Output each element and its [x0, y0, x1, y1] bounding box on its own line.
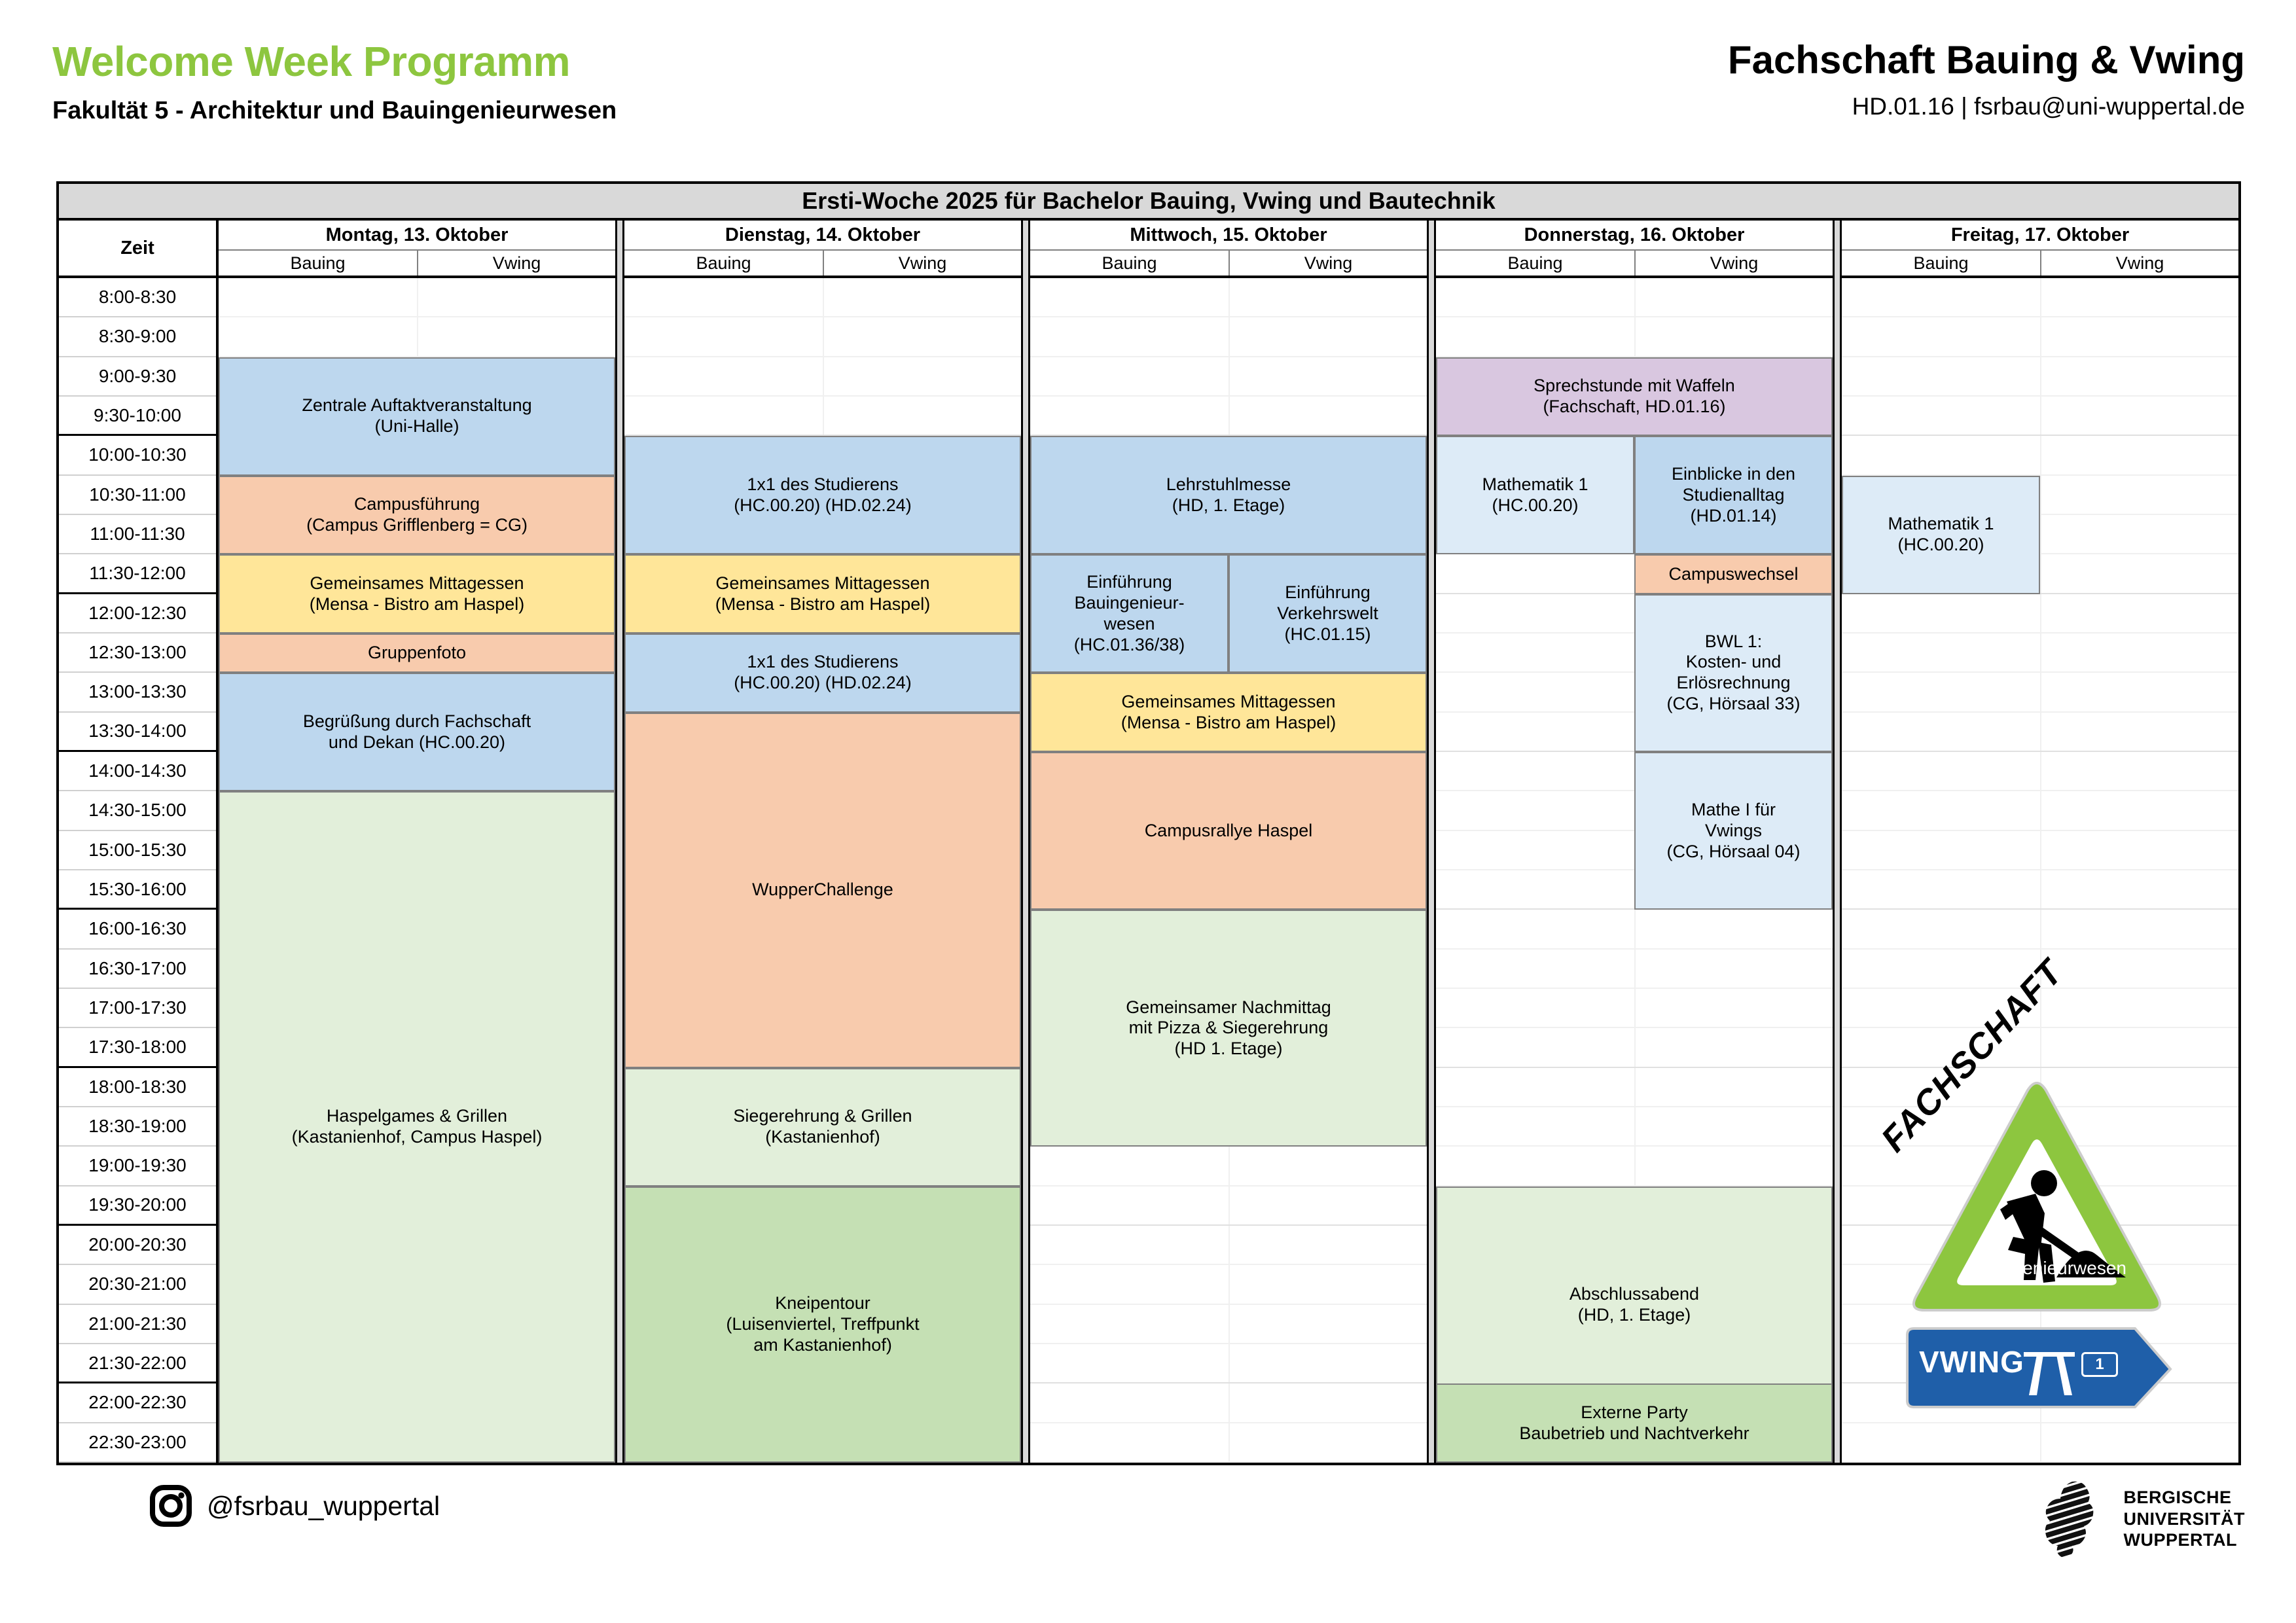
track-bauing-dienstag: Bauing — [624, 251, 823, 276]
schedule-event[interactable]: Mathe I für Vwings (CG, Hörsaal 04) — [1634, 752, 1833, 910]
time-slot: 18:30-19:00 — [59, 1107, 216, 1147]
bergischer-loewe-icon — [2042, 1480, 2108, 1558]
time-slot: 14:00-14:30 — [59, 752, 216, 791]
university-line-2: UNIVERSITÄT — [2123, 1508, 2245, 1530]
time-slot: 15:30-16:00 — [59, 870, 216, 910]
time-slot: 13:30-14:00 — [59, 713, 216, 752]
time-slot: 14:30-15:00 — [59, 791, 216, 830]
time-slot-list: 8:00-8:308:30-9:009:00-9:309:30-10:0010:… — [59, 278, 216, 1463]
time-slot: 10:00-10:30 — [59, 436, 216, 475]
grid-line — [1842, 1461, 2238, 1463]
grid-line — [1842, 908, 2238, 910]
grid-line — [1842, 1027, 2238, 1028]
schedule-event[interactable]: Einführung Bauingenieur- wesen (HC.01.36… — [1030, 554, 1229, 673]
track-row-dienstag: Bauing Vwing — [624, 251, 1021, 276]
schedule-event[interactable]: Campuswechsel — [1634, 554, 1833, 594]
day-name-dienstag: Dienstag, 14. Oktober — [624, 221, 1021, 251]
schedule-event[interactable]: 1x1 des Studierens (HC.00.20) (HD.02.24) — [624, 436, 1021, 554]
page-header: Welcome Week Programm Fakultät 5 - Archi… — [0, 0, 2296, 164]
header-right-block: Fachschaft Bauing & Vwing HD.01.16 | fsr… — [1728, 41, 2245, 120]
grid-line — [1842, 316, 2238, 317]
track-vwing-freitag: Vwing — [2040, 251, 2238, 276]
schedule-event[interactable]: Einblicke in den Studienalltag (HD.01.14… — [1634, 436, 1833, 554]
grid-line — [1842, 830, 2238, 831]
grid-line — [1436, 1145, 1833, 1147]
time-slot: 17:00-17:30 — [59, 989, 216, 1028]
grid-line — [1842, 751, 2238, 752]
grid-line — [1436, 316, 1833, 317]
time-slot: 16:30-17:00 — [59, 950, 216, 989]
instagram-handle[interactable]: @fsrbau_wuppertal — [207, 1491, 440, 1522]
day-column-monday: Montag, 13. Oktober Bauing Vwing Zentral… — [219, 221, 615, 1463]
column-separator-1 — [615, 221, 624, 1463]
day-name-donnerstag: Donnerstag, 16. Oktober — [1436, 221, 1833, 251]
schedule-event[interactable]: Einführung Verkehrswelt (HC.01.15) — [1229, 554, 1427, 673]
grid-line — [1030, 1343, 1427, 1344]
grid-line — [624, 356, 1021, 357]
schedule-event[interactable]: Gemeinsames Mittagessen (Mensa - Bistro … — [1030, 673, 1427, 752]
track-bauing-mittwoch: Bauing — [1030, 251, 1229, 276]
schedule-event[interactable]: 1x1 des Studierens (HC.00.20) (HD.02.24) — [624, 633, 1021, 713]
column-separator-3 — [1427, 221, 1436, 1463]
track-row-donnerstag: Bauing Vwing — [1436, 251, 1833, 276]
time-slot: 19:00-19:30 — [59, 1147, 216, 1186]
schedule-event[interactable]: WupperChallenge — [624, 713, 1021, 1068]
day-body-mittwoch: Lehrstuhlmesse (HD, 1. Etage)Einführung … — [1030, 278, 1427, 1463]
track-row-monday: Bauing Vwing — [219, 251, 615, 276]
schedule-event[interactable]: Begrüßung durch Fachschaft und Dekan (HC… — [219, 673, 615, 791]
schedule-event[interactable]: Gemeinsames Mittagessen (Mensa - Bistro … — [219, 554, 615, 633]
grid-line — [1842, 711, 2238, 713]
university-line-3: WUPPERTAL — [2123, 1529, 2245, 1551]
time-slot: 8:30-9:00 — [59, 317, 216, 357]
column-separator-2 — [1021, 221, 1030, 1463]
time-slot: 21:00-21:30 — [59, 1305, 216, 1344]
time-slot: 21:30-22:00 — [59, 1344, 216, 1383]
day-body-dienstag: 1x1 des Studierens (HC.00.20) (HD.02.24)… — [624, 278, 1021, 1463]
time-slot: 20:30-21:00 — [59, 1265, 216, 1304]
grid-line — [1030, 1422, 1427, 1423]
grid-line — [1842, 790, 2238, 791]
grid-line — [1842, 1422, 2238, 1423]
grid-line — [1842, 869, 2238, 870]
day-name-mittwoch: Mittwoch, 15. Oktober — [1030, 221, 1427, 251]
time-slot: 11:00-11:30 — [59, 515, 216, 554]
day-body-donnerstag: Sprechstunde mit Waffeln (Fachschaft, HD… — [1436, 278, 1833, 1463]
day-header-mittwoch: Mittwoch, 15. Oktober Bauing Vwing — [1030, 221, 1427, 278]
schedule-event[interactable]: Lehrstuhlmesse (HD, 1. Etage) — [1030, 436, 1427, 554]
schedule-event[interactable]: Campusführung (Campus Grifflenberg = CG) — [219, 476, 615, 555]
schedule-event[interactable]: Gruppenfoto — [219, 633, 615, 673]
schedule-event[interactable]: Campusrallye Haspel — [1030, 752, 1427, 910]
schedule-event[interactable]: Sprechstunde mit Waffeln (Fachschaft, HD… — [1436, 357, 1833, 437]
time-slot: 9:30-10:00 — [59, 397, 216, 436]
grid-line — [1030, 1264, 1427, 1265]
track-row-freitag: Bauing Vwing — [1842, 251, 2238, 276]
time-slot: 10:30-11:00 — [59, 476, 216, 515]
schedule-event[interactable]: Haspelgames & Grillen (Kastanienhof, Cam… — [219, 791, 615, 1463]
track-row-mittwoch: Bauing Vwing — [1030, 251, 1427, 276]
organisation-name: Fachschaft Bauing & Vwing — [1728, 41, 2245, 80]
grid-line — [219, 316, 615, 317]
schedule-event[interactable]: Externe Party Baubetrieb und Nachtverkeh… — [1436, 1383, 1833, 1463]
day-column-donnerstag: Donnerstag, 16. Oktober Bauing Vwing Spr… — [1436, 221, 1833, 1463]
grid-line — [1030, 1382, 1427, 1383]
schedule-banner-text: Ersti-Woche 2025 für Bachelor Bauing, Vw… — [802, 187, 1496, 215]
track-vwing-donnerstag: Vwing — [1634, 251, 1833, 276]
schedule-event[interactable]: Gemeinsamer Nachmittag mit Pizza & Siege… — [1030, 910, 1427, 1147]
day-header-freitag: Freitag, 17. Oktober Bauing Vwing — [1842, 221, 2238, 278]
track-vwing-dienstag: Vwing — [823, 251, 1021, 276]
grid-line — [1030, 316, 1427, 317]
day-header-monday: Montag, 13. Oktober Bauing Vwing — [219, 221, 615, 278]
schedule-event[interactable]: Zentrale Auftaktveranstaltung (Uni-Halle… — [219, 357, 615, 476]
day-name-monday: Montag, 13. Oktober — [219, 221, 615, 251]
time-slot: 13:00-13:30 — [59, 673, 216, 712]
time-slot: 11:30-12:00 — [59, 554, 216, 594]
time-slot: 18:00-18:30 — [59, 1068, 216, 1107]
schedule-event[interactable]: Gemeinsames Mittagessen (Mensa - Bistro … — [624, 554, 1021, 633]
day-name-freitag: Freitag, 17. Oktober — [1842, 221, 2238, 251]
fachschaft-logo: FACHSCHAFT Bauingenieurwesen VWING 1 — [1885, 1047, 2193, 1414]
grid-line — [1436, 988, 1833, 989]
grid-line — [1030, 1185, 1427, 1186]
schedule-banner: Ersti-Woche 2025 für Bachelor Bauing, Vw… — [59, 184, 2238, 221]
grid-line — [1436, 948, 1833, 950]
university-name: BERGISCHE UNIVERSITÄT WUPPERTAL — [2123, 1487, 2245, 1552]
grid-line — [624, 395, 1021, 397]
time-slot: 17:30-18:00 — [59, 1028, 216, 1067]
grid-line — [1842, 632, 2238, 633]
time-slot: 16:00-16:30 — [59, 910, 216, 949]
instagram-icon[interactable] — [149, 1484, 192, 1527]
grid-line — [1030, 395, 1427, 397]
time-slot: 12:00-12:30 — [59, 594, 216, 633]
contact-info: HD.01.16 | fsrbau@uni-wuppertal.de — [1728, 93, 2245, 120]
time-slot: 12:30-13:00 — [59, 633, 216, 673]
time-slot: 20:00-20:30 — [59, 1226, 216, 1265]
track-bauing-donnerstag: Bauing — [1436, 251, 1634, 276]
grid-line — [1842, 395, 2238, 397]
track-vwing-monday: Vwing — [417, 251, 615, 276]
schedule-event[interactable]: Mathematik 1 (HC.00.20) — [1436, 436, 1634, 554]
vwing-number-badge: 1 — [2081, 1352, 2118, 1377]
fachschaft-caption: Bauingenieurwesen — [1948, 1258, 2144, 1279]
time-slot: 9:00-9:30 — [59, 357, 216, 397]
schedule-event[interactable]: Mathematik 1 (HC.00.20) — [1842, 476, 2040, 594]
vwing-wordmark: VWING — [1919, 1344, 2024, 1380]
grid-line — [1436, 1106, 1833, 1107]
university-line-1: BERGISCHE — [2123, 1487, 2245, 1508]
schedule-event[interactable]: Siegerehrung & Grillen (Kastanienhof) — [624, 1068, 1021, 1186]
header-left-block: Welcome Week Programm Fakultät 5 - Archi… — [52, 41, 617, 125]
grid-line — [1030, 1304, 1427, 1305]
time-slot: 15:00-15:30 — [59, 831, 216, 870]
time-slot: 8:00-8:30 — [59, 278, 216, 317]
grid-line — [1436, 1027, 1833, 1028]
faculty-subtitle: Fakultät 5 - Architektur und Bauingenieu… — [52, 97, 617, 125]
track-vwing-mittwoch: Vwing — [1229, 251, 1427, 276]
track-bauing-freitag: Bauing — [1842, 251, 2040, 276]
time-column: Zeit 8:00-8:308:30-9:009:00-9:309:30-10:… — [59, 221, 219, 1463]
schedule-event[interactable]: Kneipentour (Luisenviertel, Treffpunkt a… — [624, 1186, 1021, 1463]
column-separator-4 — [1833, 221, 1842, 1463]
day-header-dienstag: Dienstag, 14. Oktober Bauing Vwing — [624, 221, 1021, 278]
grid-line — [1842, 435, 2238, 436]
day-column-dienstag: Dienstag, 14. Oktober Bauing Vwing 1x1 d… — [624, 221, 1021, 1463]
track-bauing-monday: Bauing — [219, 251, 417, 276]
grid-line — [1030, 1461, 1427, 1463]
grid-line — [1842, 356, 2238, 357]
time-slot: 22:30-23:00 — [59, 1423, 216, 1463]
time-column-header: Zeit — [59, 221, 216, 278]
grid-line — [1030, 356, 1427, 357]
time-slot: 19:30-20:00 — [59, 1186, 216, 1226]
grid-line — [1842, 671, 2238, 673]
day-body-monday: Zentrale Auftaktveranstaltung (Uni-Halle… — [219, 278, 615, 1463]
schedule-event[interactable]: BWL 1: Kosten- und Erlösrechnung (CG, Hö… — [1634, 594, 1833, 752]
grid-line — [1436, 1067, 1833, 1068]
time-slot: 22:00-22:30 — [59, 1383, 216, 1423]
university-logo: BERGISCHE UNIVERSITÄT WUPPERTAL — [2042, 1480, 2245, 1558]
grid-line — [1842, 948, 2238, 950]
grid-line — [624, 316, 1021, 317]
instagram-footer[interactable]: @fsrbau_wuppertal — [149, 1484, 440, 1527]
grid-line — [1030, 1224, 1427, 1226]
page-title: Welcome Week Programm — [52, 41, 617, 82]
day-column-mittwoch: Mittwoch, 15. Oktober Bauing Vwing Lehrs… — [1030, 221, 1427, 1463]
day-header-donnerstag: Donnerstag, 16. Oktober Bauing Vwing — [1436, 221, 1833, 278]
